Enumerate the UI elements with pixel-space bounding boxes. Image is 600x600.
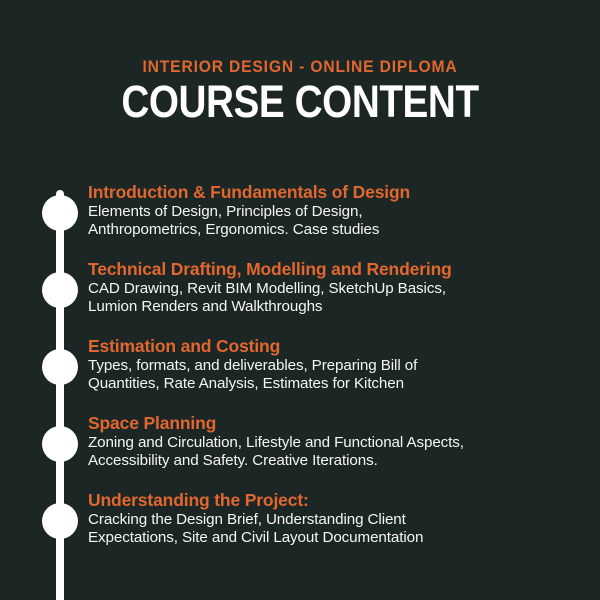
timeline-dot-icon — [42, 349, 78, 385]
module-title: Estimation and Costing — [88, 334, 586, 356]
list-item: Space Planning Zoning and Circulation, L… — [0, 411, 600, 488]
list-item: Estimation and Costing Types, formats, a… — [0, 334, 600, 411]
module-title: Technical Drafting, Modelling and Render… — [88, 257, 586, 279]
module-description: Types, formats, and deliverables, Prepar… — [88, 357, 586, 392]
page-title: COURSE CONTENT — [42, 78, 558, 125]
list-item: Introduction & Fundamentals of Design El… — [0, 180, 600, 257]
timeline-dot-icon — [42, 503, 78, 539]
list-item: Understanding the Project: Cracking the … — [0, 488, 600, 565]
module-description: CAD Drawing, Revit BIM Modelling, Sketch… — [88, 280, 586, 315]
timeline-list: Introduction & Fundamentals of Design El… — [0, 180, 600, 565]
poster-eyebrow: INTERIOR DESIGN - ONLINE DIPLOMA — [24, 57, 576, 76]
poster-header: INTERIOR DESIGN - ONLINE DIPLOMA COURSE … — [0, 57, 600, 125]
module-description: Cracking the Design Brief, Understanding… — [88, 511, 586, 546]
timeline-dot-icon — [42, 426, 78, 462]
list-item: Technical Drafting, Modelling and Render… — [0, 257, 600, 334]
module-description: Elements of Design, Principles of Design… — [88, 203, 586, 238]
module-title: Space Planning — [88, 411, 586, 433]
module-description: Zoning and Circulation, Lifestyle and Fu… — [88, 434, 586, 469]
timeline-dot-icon — [42, 195, 78, 231]
module-title: Understanding the Project: — [88, 488, 586, 510]
timeline-dot-icon — [42, 272, 78, 308]
course-content-poster: INTERIOR DESIGN - ONLINE DIPLOMA COURSE … — [0, 0, 600, 600]
module-title: Introduction & Fundamentals of Design — [88, 180, 586, 202]
